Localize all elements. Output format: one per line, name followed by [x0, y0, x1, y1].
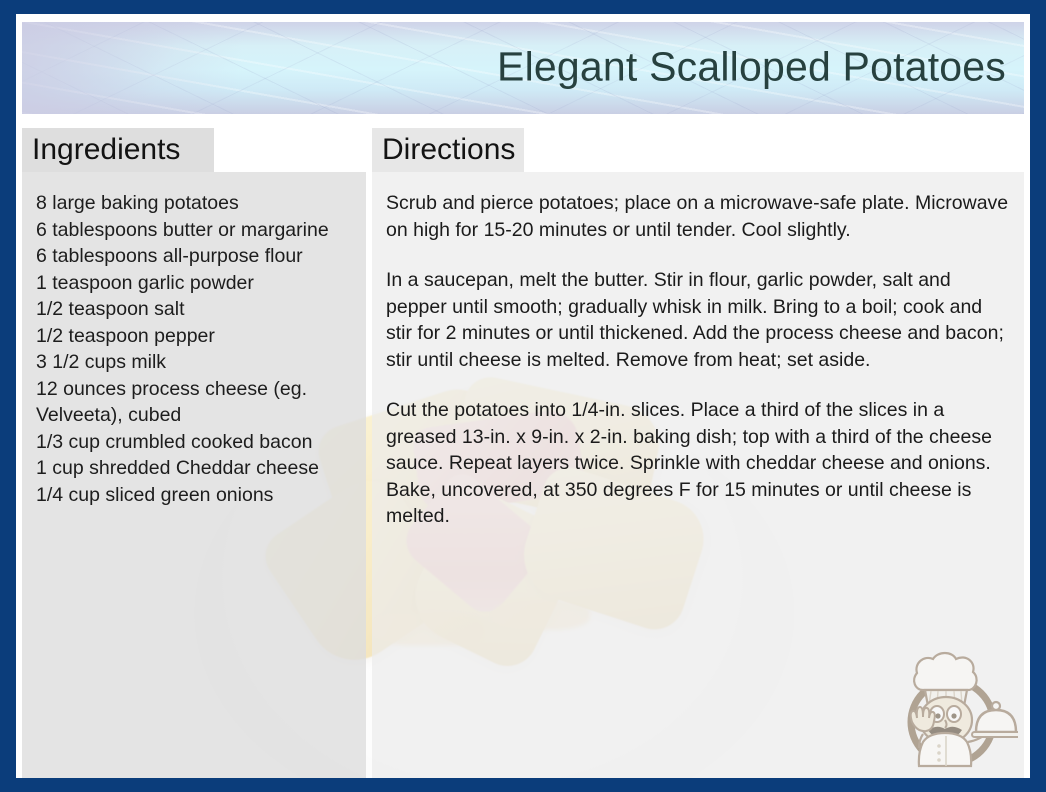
chef-hat-icon	[914, 653, 976, 690]
banner-left-fade	[22, 22, 242, 114]
ingredient-item: 1/4 cup sliced green onions	[36, 482, 352, 509]
title-banner: Elegant Scalloped Potatoes	[22, 22, 1024, 114]
ingredient-item: 1 teaspoon garlic powder	[36, 270, 352, 297]
ingredient-item: 3 1/2 cups milk	[36, 349, 352, 376]
ingredient-item: 8 large baking potatoes	[36, 190, 352, 217]
chef-logo-icon	[890, 646, 1018, 770]
ingredient-item: 1/2 teaspoon pepper	[36, 323, 352, 350]
ingredients-heading-label: Ingredients	[32, 135, 180, 165]
ingredients-panel: 8 large baking potatoes 6 tablespoons bu…	[22, 172, 366, 778]
ingredient-item: 6 tablespoons butter or margarine	[36, 217, 352, 244]
ingredient-item: Velveeta), cubed	[36, 402, 352, 429]
direction-paragraph: Cut the potatoes into 1/4-in. slices. Pl…	[386, 397, 1010, 530]
page-title: Elegant Scalloped Potatoes	[497, 45, 1006, 90]
serving-dome-icon	[976, 710, 1016, 732]
ingredient-item: 1 cup shredded Cheddar cheese	[36, 455, 352, 482]
chef-jacket-icon	[919, 733, 971, 766]
ingredients-header-tab: Ingredients	[22, 128, 214, 172]
ingredient-item: 6 tablespoons all-purpose flour	[36, 243, 352, 270]
slide-canvas: Elegant Scalloped Potatoes Ingredients D…	[16, 14, 1030, 778]
direction-paragraph: Scrub and pierce potatoes; place on a mi…	[386, 190, 1010, 243]
ingredient-item: 1/2 teaspoon salt	[36, 296, 352, 323]
directions-heading-label: Directions	[382, 135, 515, 165]
direction-paragraph: In a saucepan, melt the butter. Stir in …	[386, 267, 1010, 373]
ingredient-item: 1/3 cup crumbled cooked bacon	[36, 429, 352, 456]
ingredient-item: 12 ounces process cheese (eg.	[36, 376, 352, 403]
recipe-slide: Elegant Scalloped Potatoes Ingredients D…	[0, 0, 1046, 792]
directions-header-tab: Directions	[372, 128, 524, 172]
